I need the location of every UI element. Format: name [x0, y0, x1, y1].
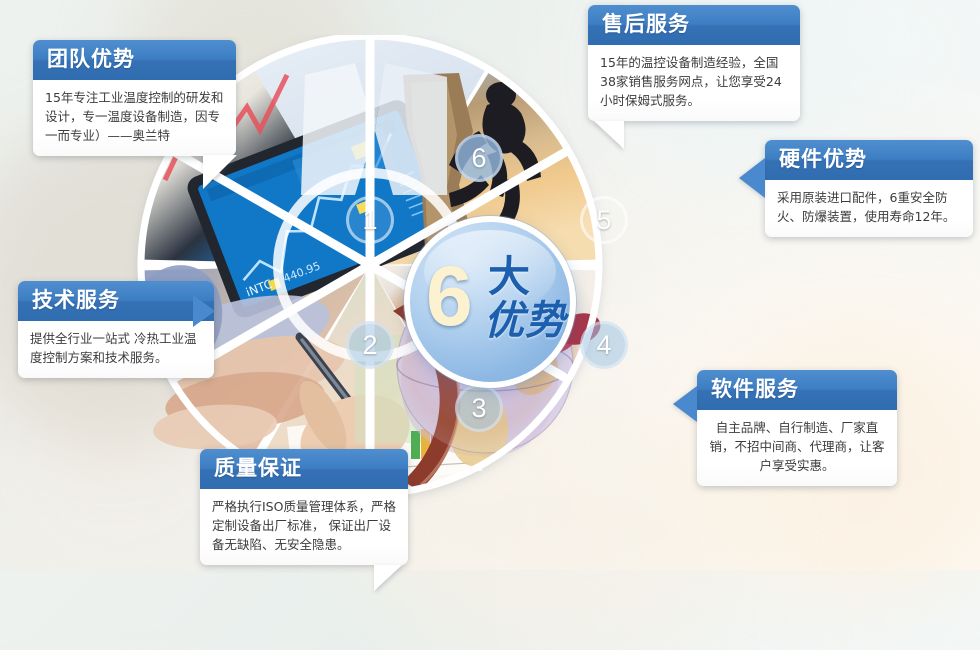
callout-after-sales-tail [594, 121, 624, 149]
callout-software[interactable]: 软件服务 自主品牌、自行制造、厂家直销，不招中间商、代理商，让客户享受实惠。 [697, 370, 897, 486]
callout-hardware-title: 硬件优势 [765, 140, 973, 180]
callout-team-title: 团队优势 [33, 40, 236, 80]
segment-badge-2[interactable]: 2 [346, 321, 394, 369]
callout-team-tail [203, 155, 237, 189]
callout-software-title: 软件服务 [697, 370, 897, 410]
infographic-stage: iNTC 440.95 [0, 0, 980, 570]
center-emblem: 6 大 优势 [404, 216, 576, 388]
callout-technical-body: 提供全行业一站式 冷热工业温度控制方案和技术服务。 [18, 321, 214, 378]
callout-technical-tail [193, 295, 215, 327]
segment-badge-4[interactable]: 4 [580, 321, 628, 369]
callout-after-sales-title: 售后服务 [588, 5, 800, 45]
callout-hardware-body: 采用原装进口配件，6重安全防火、防爆装置，使用寿命12年。 [765, 180, 973, 237]
segment-badge-1[interactable]: 1 [346, 196, 394, 244]
callout-hardware[interactable]: 硬件优势 采用原装进口配件，6重安全防火、防爆装置，使用寿命12年。 [765, 140, 973, 237]
callout-after-sales[interactable]: 售后服务 15年的温控设备制造经验，全国38家销售服务网点，让您享受24小时保姆… [588, 5, 800, 121]
callout-software-body: 自主品牌、自行制造、厂家直销，不招中间商、代理商，让客户享受实惠。 [697, 410, 897, 486]
segment-badge-3[interactable]: 3 [455, 384, 503, 432]
segment-badge-6[interactable]: 6 [455, 134, 503, 182]
callout-technical-title: 技术服务 [18, 281, 214, 321]
callout-quality-body: 严格执行ISO质量管理体系，严格定制设备出厂标准， 保证出厂设备无缺陷、无安全隐… [200, 489, 408, 565]
center-subtext: 优势 [484, 300, 566, 342]
callout-quality-tail [374, 565, 402, 591]
callout-hardware-tail [739, 158, 765, 198]
callout-team-advantage[interactable]: 团队优势 15年专注工业温度控制的研发和设计，专一温度设备制造，因专一而专业）—… [33, 40, 236, 156]
callout-quality[interactable]: 质量保证 严格执行ISO质量管理体系，严格定制设备出厂标准， 保证出厂设备无缺陷… [200, 449, 408, 565]
callout-software-tail [673, 386, 697, 422]
callout-after-sales-body: 15年的温控设备制造经验，全国38家销售服务网点，让您享受24小时保姆式服务。 [588, 45, 800, 121]
callout-technical[interactable]: 技术服务 提供全行业一站式 冷热工业温度控制方案和技术服务。 [18, 281, 214, 378]
callout-quality-title: 质量保证 [200, 449, 408, 489]
center-number: 6 [426, 254, 473, 338]
callout-team-body: 15年专注工业温度控制的研发和设计，专一温度设备制造，因专一而专业）——奥兰特 [33, 80, 236, 156]
segment-badge-5[interactable]: 5 [580, 196, 628, 244]
center-big-char: 大 [488, 256, 530, 298]
